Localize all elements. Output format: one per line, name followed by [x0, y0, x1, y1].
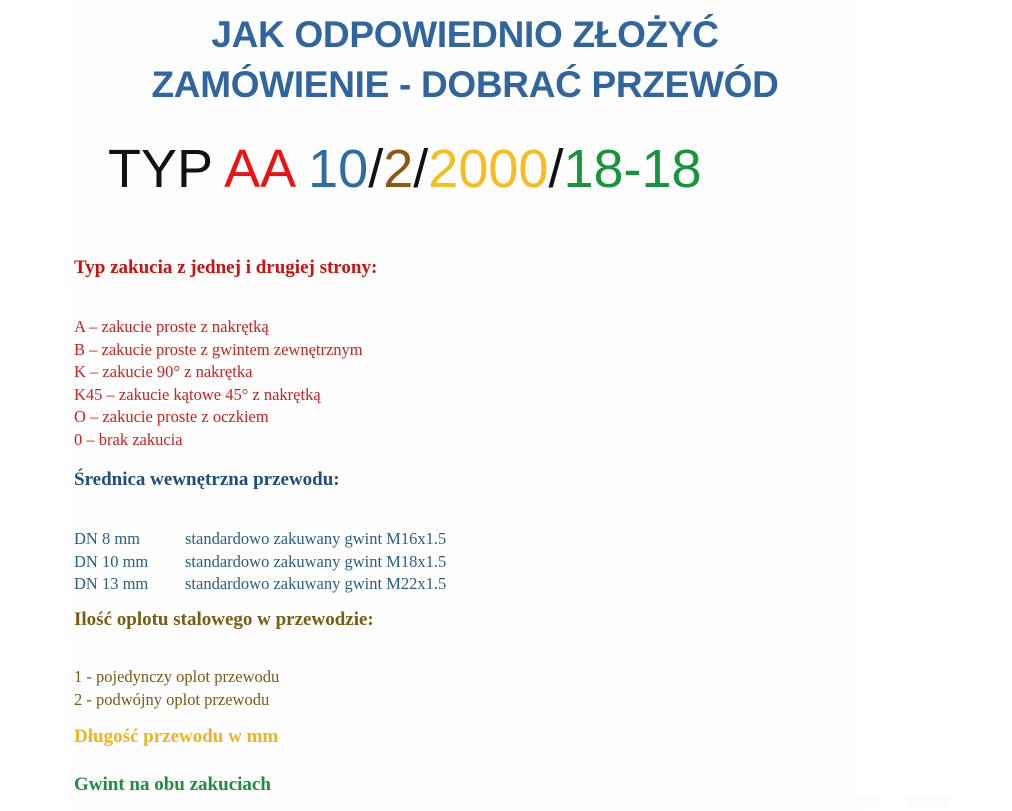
cell-note: standardowo zakuwany gwint M16x1.5 — [185, 528, 446, 551]
list-item: 1 - pojedynczy oplot przewodu — [74, 666, 374, 689]
list-item: K – zakucie 90° z nakrętka — [74, 361, 377, 384]
section-heading-dlugosc: Długość przewodu w mm — [74, 725, 278, 749]
section-dlugosc: Długość przewodu w mm — [74, 725, 278, 749]
code-separator-2: / — [413, 139, 428, 199]
cell-size: DN 10 mm — [74, 551, 185, 574]
code-segment-braid-count: 2 — [383, 139, 413, 199]
code-separator-1: / — [368, 139, 383, 199]
list-item: B – zakucie proste z gwintem zewnętrznym — [74, 339, 377, 362]
code-segment-typ: TYP — [108, 139, 224, 199]
section-heading-srednica: Średnica wewnętrzna przewodu: — [74, 468, 446, 492]
code-segment-diameter: 10 — [308, 139, 368, 199]
cell-note: standardowo zakuwany gwint M18x1.5 — [185, 551, 446, 574]
slide-page: JAK ODPOWIEDNIO ZŁOŻYĆ ZAMÓWIENIE - DOBR… — [0, 0, 1012, 811]
product-code-example: TYP AA 10/2/2000/18-18 — [108, 138, 702, 200]
cell-size: DN 8 mm — [74, 528, 185, 551]
page-title-line-1: JAK ODPOWIEDNIO ZŁOŻYĆ — [0, 10, 930, 60]
bottom-cutoff-strip — [0, 793, 1012, 811]
list-item: 2 - podwójny oplot przewodu — [74, 689, 374, 712]
table-row: DN 13 mmstandardowo zakuwany gwint M22x1… — [74, 573, 446, 596]
list-item: K45 – zakucie kątowe 45° z nakrętką — [74, 384, 377, 407]
list-item: A – zakucie proste z nakrętką — [74, 316, 377, 339]
code-segment-fitting-type: AA — [224, 139, 308, 199]
section-list-oplot: 1 - pojedynczy oplot przewodu 2 - podwój… — [74, 666, 374, 711]
section-heading-oplot: Ilość oplotu stalowego w przewodzie: — [74, 608, 374, 632]
section-table-srednica: DN 8 mmstandardowo zakuwany gwint M16x1.… — [74, 528, 446, 596]
cell-size: DN 13 mm — [74, 573, 185, 596]
code-segment-thread: 18-18 — [563, 139, 701, 199]
code-separator-3: / — [548, 139, 563, 199]
page-title-line-2: ZAMÓWIENIE - DOBRAĆ PRZEWÓD — [0, 60, 930, 110]
section-srednica: Średnica wewnętrzna przewodu: DN 8 mmsta… — [74, 468, 446, 596]
code-segment-length: 2000 — [428, 139, 548, 199]
section-list-typ-zakucia: A – zakucie proste z nakrętką B – zakuci… — [74, 316, 377, 452]
section-oplot: Ilość oplotu stalowego w przewodzie: 1 -… — [74, 608, 374, 711]
page-title: JAK ODPOWIEDNIO ZŁOŻYĆ ZAMÓWIENIE - DOBR… — [0, 10, 930, 110]
table-row: DN 8 mmstandardowo zakuwany gwint M16x1.… — [74, 528, 446, 551]
section-heading-typ-zakucia: Typ zakucia z jednej i drugiej strony: — [74, 256, 377, 280]
section-typ-zakucia: Typ zakucia z jednej i drugiej strony: A… — [74, 256, 377, 452]
list-item: O – zakucie proste z oczkiem — [74, 406, 377, 429]
list-item: 0 – brak zakucia — [74, 429, 377, 452]
table-row: DN 10 mmstandardowo zakuwany gwint M18x1… — [74, 551, 446, 574]
cell-note: standardowo zakuwany gwint M22x1.5 — [185, 573, 446, 596]
